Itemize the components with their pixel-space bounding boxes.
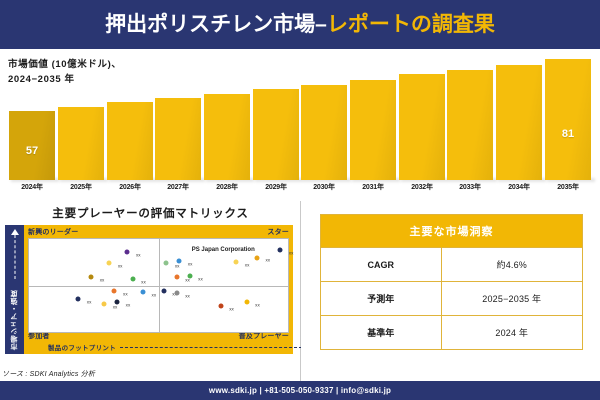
bar bbox=[545, 59, 591, 180]
table-row: 予測年2025−2035 年 bbox=[321, 282, 583, 316]
market-value-chart-panel: 市場価値 (10億米ドル)、 2024−2035 年 5781 2024年202… bbox=[0, 49, 600, 201]
bar-value-label: 57 bbox=[9, 145, 55, 157]
matrix-dot bbox=[115, 300, 120, 305]
page-title-accent: レポートの調査果 bbox=[327, 13, 495, 36]
quadrant-label-top-left: 新興のリーダー bbox=[28, 227, 78, 237]
matrix-dot-label: xx bbox=[141, 279, 146, 284]
matrix-dot-label: xx bbox=[87, 300, 92, 305]
bar bbox=[204, 94, 250, 180]
x-axis-tick-label: 2026年 bbox=[107, 182, 153, 192]
matrix-dot-label: xx bbox=[100, 277, 105, 282]
insight-key: 基準年 bbox=[321, 316, 442, 350]
page-header: 押出ポリスチレン市場–レポートの調査果 bbox=[0, 0, 600, 49]
matrix-dot bbox=[254, 255, 259, 260]
x-axis-tick-label: 2030年 bbox=[301, 182, 347, 192]
bar-slot bbox=[496, 49, 542, 180]
matrix-dot-label: xx bbox=[185, 293, 190, 298]
bar-slot bbox=[204, 49, 250, 180]
insight-key: 予測年 bbox=[321, 282, 442, 316]
bottom-section: 主要プレーヤーの評価マトリックス 市場シェア・強度 新興のリーダー スター 参加… bbox=[0, 201, 600, 381]
matrix-box: 市場シェア・強度 新興のリーダー スター 参加者 普及プレーヤー xxxxxxx… bbox=[5, 225, 293, 354]
bar-chart-plot: 5781 bbox=[8, 49, 592, 180]
insight-value: 約4.6% bbox=[441, 248, 582, 282]
bar bbox=[253, 89, 299, 180]
matrix-dot-label: xx bbox=[118, 263, 123, 268]
footer-contact-text: www.sdki.jp | +81-505-050-9337 | info@sd… bbox=[209, 386, 391, 395]
infographic-page: 押出ポリスチレン市場–レポートの調査果 市場価値 (10億米ドル)、 2024−… bbox=[0, 0, 600, 400]
matrix-title: 主要プレーヤーの評価マトリックス bbox=[0, 205, 301, 221]
matrix-dot bbox=[125, 250, 130, 255]
matrix-dot bbox=[130, 276, 135, 281]
bar-slot bbox=[58, 49, 104, 180]
x-axis-tick-label: 2028年 bbox=[204, 182, 250, 192]
quadrant-label-top-right: スター bbox=[267, 227, 289, 237]
matrix-dot bbox=[174, 290, 179, 295]
matrix-inner: 新興のリーダー スター 参加者 普及プレーヤー xxxxxxxxxxxxxxxx… bbox=[24, 225, 293, 354]
bar-slot bbox=[447, 49, 493, 180]
quadrant-divider-horizontal bbox=[29, 286, 288, 287]
bar-slot: 81 bbox=[545, 49, 591, 180]
matrix-dot bbox=[164, 261, 169, 266]
bar bbox=[301, 85, 347, 180]
matrix-dot bbox=[234, 260, 239, 265]
x-axis-tick-label: 2029年 bbox=[253, 182, 299, 192]
bar-slot bbox=[399, 49, 445, 180]
matrix-dot bbox=[174, 275, 179, 280]
matrix-dot-label: xx bbox=[113, 304, 118, 309]
x-axis-tick-label: 2025年 bbox=[58, 182, 104, 192]
matrix-dot-label: xx bbox=[255, 303, 260, 308]
matrix-dot-label: xx bbox=[185, 277, 190, 282]
matrix-dot-label: xx bbox=[266, 258, 271, 263]
matrix-dot-label: xx bbox=[175, 263, 180, 268]
matrix-dot bbox=[218, 303, 223, 308]
matrix-dot bbox=[244, 300, 249, 305]
matrix-dot-label: xx bbox=[126, 303, 131, 308]
matrix-dot-label: xx bbox=[229, 306, 234, 311]
bar bbox=[155, 98, 201, 180]
matrix-dot-label: xx bbox=[123, 291, 128, 296]
x-axis-tick-label: 2032年 bbox=[399, 182, 445, 192]
x-axis-tick-label: 2027年 bbox=[155, 182, 201, 192]
matrix-dot bbox=[89, 275, 94, 280]
bar-chart-x-axis: 2024年2025年2026年2027年2028年2029年2030年2031年… bbox=[8, 182, 592, 196]
matrix-x-axis-label: 製品のフットプリント bbox=[48, 342, 116, 352]
matrix-dot bbox=[107, 261, 112, 266]
key-insights-panel: 主要な市場洞察 CAGR約4.6%予測年2025−2035 年基準年2024 年 bbox=[301, 201, 600, 381]
bar bbox=[350, 80, 396, 180]
bar-slot bbox=[301, 49, 347, 180]
bar bbox=[447, 70, 493, 180]
x-axis-tick-label: 2024年 bbox=[9, 182, 55, 192]
bar-slot bbox=[350, 49, 396, 180]
table-row: CAGR約4.6% bbox=[321, 248, 583, 282]
insight-value: 2024 年 bbox=[441, 316, 582, 350]
bar-value-label: 81 bbox=[545, 128, 591, 140]
y-axis-dashed-line bbox=[14, 235, 15, 279]
bar bbox=[107, 102, 153, 180]
x-axis-tick-label: 2034年 bbox=[496, 182, 542, 192]
x-axis-tick-label: 2033年 bbox=[447, 182, 493, 192]
matrix-dot-label: xx bbox=[245, 263, 250, 268]
bar bbox=[496, 65, 542, 180]
x-axis-tick-label: 2031年 bbox=[350, 182, 396, 192]
bar-slot bbox=[253, 49, 299, 180]
matrix-dot bbox=[112, 289, 117, 294]
matrix-dot bbox=[102, 302, 107, 307]
page-title: 押出ポリスチレン市場–レポートの調査果 bbox=[105, 14, 495, 35]
x-axis-dashed-line bbox=[120, 347, 302, 348]
matrix-dot-label: xx bbox=[198, 276, 203, 281]
x-axis-tick-label: 2035年 bbox=[545, 182, 591, 192]
bar bbox=[58, 107, 104, 180]
matrix-dot-label: xx bbox=[188, 262, 193, 267]
key-insights-header: 主要な市場洞察 bbox=[321, 215, 583, 248]
highlight-company-label: PS Japan Corporation bbox=[192, 247, 255, 253]
bar bbox=[399, 74, 445, 180]
table-row: 基準年2024 年 bbox=[321, 316, 583, 350]
key-insights-table: 主要な市場洞察 CAGR約4.6%予測年2025−2035 年基準年2024 年 bbox=[320, 214, 583, 350]
matrix-dot bbox=[76, 297, 81, 302]
player-matrix-panel: 主要プレーヤーの評価マトリックス 市場シェア・強度 新興のリーダー スター 参加… bbox=[0, 201, 301, 381]
source-note: ソース : SDKI Analytics 分析 bbox=[2, 369, 95, 379]
bar-slot bbox=[107, 49, 153, 180]
matrix-y-axis: 市場シェア・強度 bbox=[5, 225, 24, 354]
bar-slot: 57 bbox=[9, 49, 55, 180]
insight-key: CAGR bbox=[321, 248, 442, 282]
matrix-scatter-plot: xxxxxxxxxxxxxxxxxxxxxxxxxxxxxxxxxxxxxxxx… bbox=[28, 238, 289, 333]
matrix-dot-label: xx bbox=[289, 250, 294, 255]
insight-value: 2025−2035 年 bbox=[441, 282, 582, 316]
matrix-dot bbox=[278, 248, 283, 253]
page-footer: www.sdki.jp | +81-505-050-9337 | info@sd… bbox=[0, 381, 600, 400]
bar-slot bbox=[155, 49, 201, 180]
matrix-x-axis: 製品のフットプリント bbox=[48, 341, 310, 353]
matrix-y-axis-label: 市場シェア・強度 bbox=[10, 290, 20, 350]
matrix-dot bbox=[161, 289, 166, 294]
matrix-dot-label: xx bbox=[152, 292, 157, 297]
matrix-dot-label: xx bbox=[136, 252, 141, 257]
page-title-primary: 押出ポリスチレン市場– bbox=[105, 13, 327, 36]
matrix-dot bbox=[140, 290, 145, 295]
